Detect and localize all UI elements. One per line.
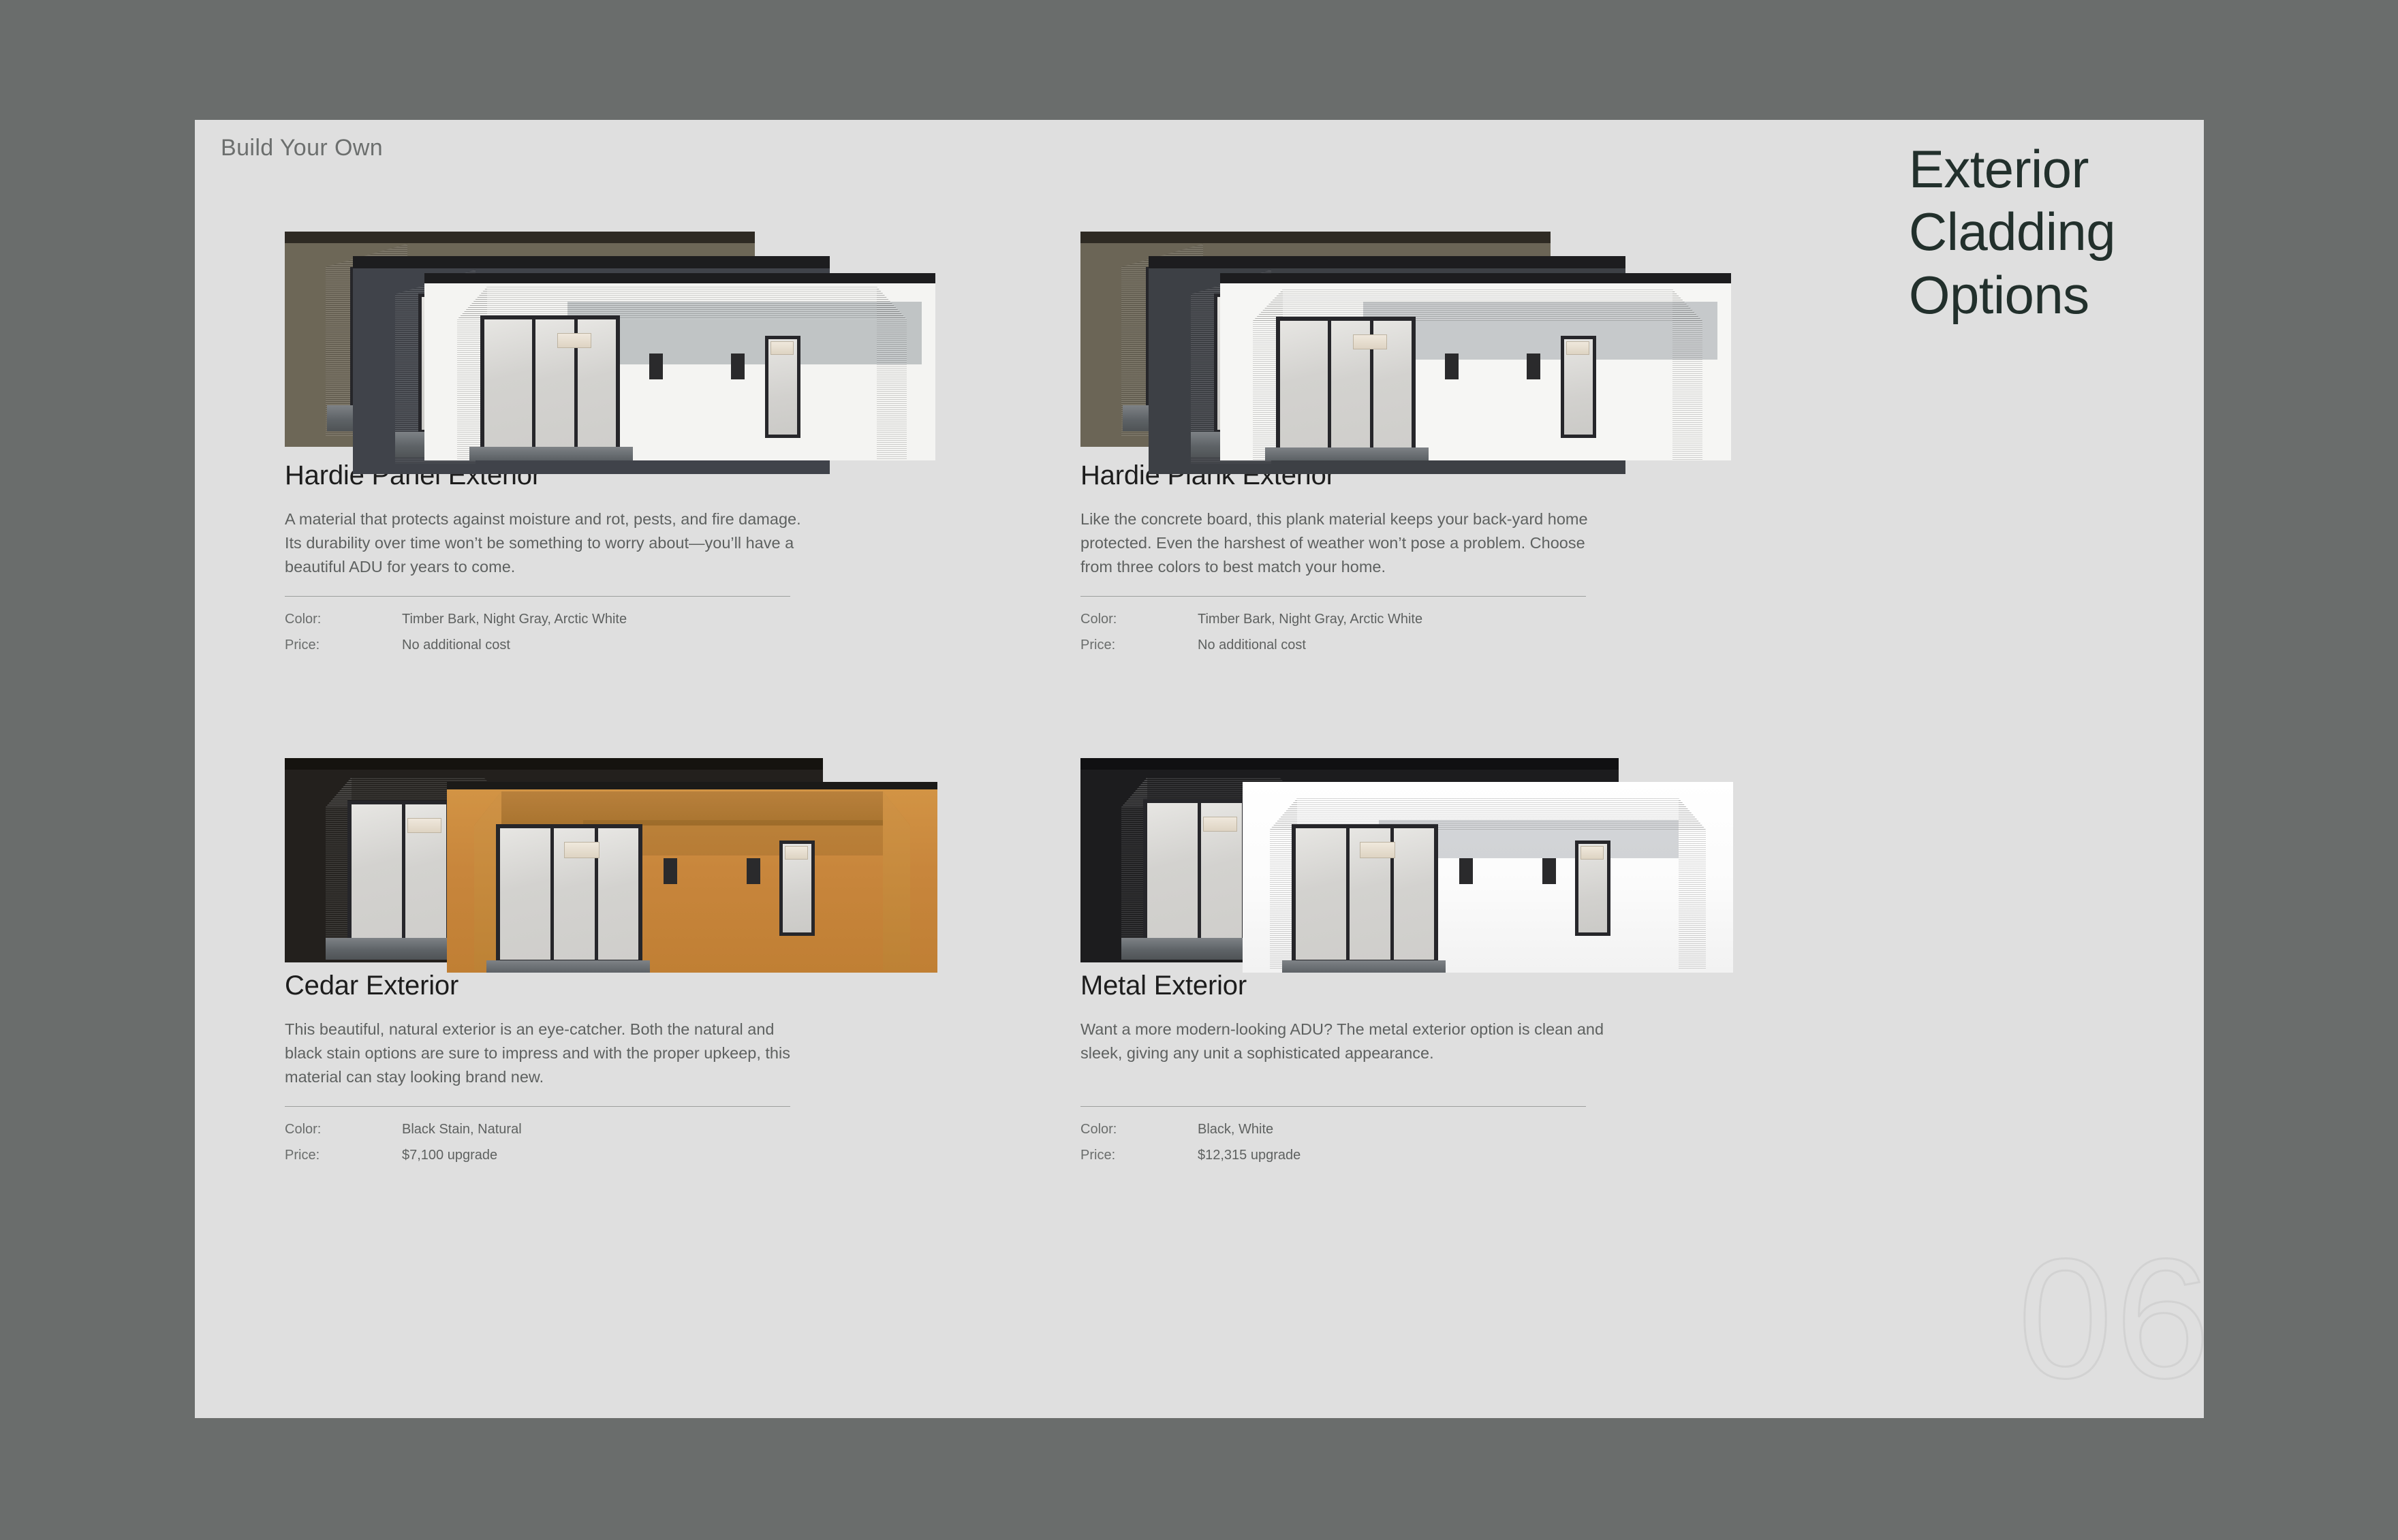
spec-row-color: Color: Black Stain, Natural [285,1122,1061,1148]
entry-step [1265,447,1429,460]
card-title: Cedar Exterior [285,971,1061,1001]
roof-fascia [285,758,823,770]
page-title-line-2: Cladding [1909,200,2115,263]
spec-label-color: Color: [1080,1122,1198,1137]
slider-door [1276,317,1416,453]
wall-sconce [1459,858,1473,884]
door-pane [352,804,402,939]
house-white-metal [1243,782,1733,973]
spec-value-color: Black Stain, Natural [402,1122,522,1137]
roof-fascia [1080,232,1551,243]
door-pane [1296,828,1346,960]
door-transom-plate [407,818,441,833]
house-arctic-white [1220,273,1731,460]
roof-fascia [353,256,830,268]
card-divider [285,1106,790,1107]
wall-sconce [747,858,760,884]
roof-fascia [1080,758,1619,770]
eyebrow-label: Build Your Own [221,135,383,161]
house-natural-cedar [447,782,937,973]
door-pane [1394,828,1434,960]
door-pane [598,828,638,960]
spec-label-price: Price: [285,638,402,653]
card-divider [285,596,790,597]
wall-sconce [1527,353,1540,379]
wall-sconce [649,353,663,379]
door-pane [1280,321,1328,449]
spec-row-color: Color: Timber Bark, Night Gray, Arctic W… [285,612,1061,638]
card-description: This beautiful, natural exterior is an e… [285,1018,809,1088]
window-transom-plate [1580,846,1604,860]
spec-label-price: Price: [285,1148,402,1163]
spec-row-price: Price: No additional cost [285,638,1061,663]
card-description: Like the concrete board, this plank mate… [1080,507,1612,578]
spec-value-price: $7,100 upgrade [402,1148,497,1163]
page-title: Exterior Cladding Options [1909,138,2115,326]
slider-door [480,315,620,452]
page-title-line-1: Exterior [1909,138,2115,200]
spec-row-price: Price: $12,315 upgrade [1080,1148,1857,1174]
house-arctic-white [424,273,935,460]
door-transom-plate [1360,842,1395,858]
card-description: Want a more modern-looking ADU? The meta… [1080,1018,1612,1065]
window-transom-plate [1566,341,1589,355]
hardie-panel-rendering [285,229,1024,460]
spec-label-price: Price: [1080,1148,1198,1163]
spec-row-price: Price: $7,100 upgrade [285,1148,1061,1174]
porch-right-jamb [883,791,910,970]
window-transom-plate [770,341,794,355]
entry-step [469,447,633,460]
option-card-hardie-panel: Hardie Panel Exterior A material that pr… [285,229,1061,663]
door-transom-plate [1353,334,1387,349]
card-specs: Color: Timber Bark, Night Gray, Arctic W… [1080,612,1857,663]
card-divider [1080,596,1586,597]
spec-row-color: Color: Black, White [1080,1122,1857,1148]
spec-value-color: Timber Bark, Night Gray, Arctic White [402,612,627,627]
entry-step [1282,960,1446,973]
door-transom-plate [557,333,591,348]
wall-sconce [664,858,677,884]
option-card-metal: Metal Exterior Want a more modern-lookin… [1080,751,1857,1174]
spec-label-color: Color: [285,612,402,627]
screenshot-root: Build Your Own Exterior Cladding Options… [0,0,2398,1540]
porch-soffit [457,287,907,319]
card-specs: Color: Black, White Price: $12,315 upgra… [1080,1122,1857,1174]
door-pane [500,828,550,960]
spec-label-color: Color: [285,1122,402,1137]
window-transom-plate [785,846,808,860]
entry-step [486,960,650,973]
wall-sconce [1445,353,1459,379]
page-title-line-3: Options [1909,264,2115,326]
cedar-rendering [285,751,1024,971]
spec-value-price: No additional cost [402,638,510,653]
spec-row-color: Color: Timber Bark, Night Gray, Arctic W… [1080,612,1857,638]
card-specs: Color: Timber Bark, Night Gray, Arctic W… [285,612,1061,663]
spec-label-color: Color: [1080,612,1198,627]
wall-sconce [731,353,745,379]
page-number-watermark: 06 [2018,1233,2204,1404]
spec-value-color: Black, White [1198,1122,1273,1137]
roof-fascia [447,782,937,789]
card-divider [1080,1106,1586,1107]
option-card-hardie-plank: Hardie Plank Exterior Like the concrete … [1080,229,1857,663]
card-description: A material that protects against moistur… [285,507,809,578]
spec-label-price: Price: [1080,638,1198,653]
door-transom-plate [1203,817,1237,832]
roof-fascia [1149,256,1625,268]
spec-value-price: $12,315 upgrade [1198,1148,1301,1163]
door-transom-plate [564,842,599,858]
spec-value-color: Timber Bark, Night Gray, Arctic White [1198,612,1422,627]
door-pane [484,319,532,447]
roof-fascia [1220,273,1731,283]
option-card-cedar: Cedar Exterior This beautiful, natural e… [285,751,1061,1174]
porch-right-jamb [1679,798,1706,969]
spec-row-price: Price: No additional cost [1080,638,1857,663]
roof-fascia [424,273,935,283]
card-title: Metal Exterior [1080,971,1857,1001]
metal-rendering [1080,751,1820,971]
door-pane [1147,803,1198,939]
card-specs: Color: Black Stain, Natural Price: $7,10… [285,1122,1061,1174]
spec-value-price: No additional cost [1198,638,1306,653]
roof-fascia [285,232,755,243]
hardie-plank-rendering [1080,229,1820,460]
slide-page: Build Your Own Exterior Cladding Options… [195,120,2204,1418]
wall-sconce [1542,858,1556,884]
